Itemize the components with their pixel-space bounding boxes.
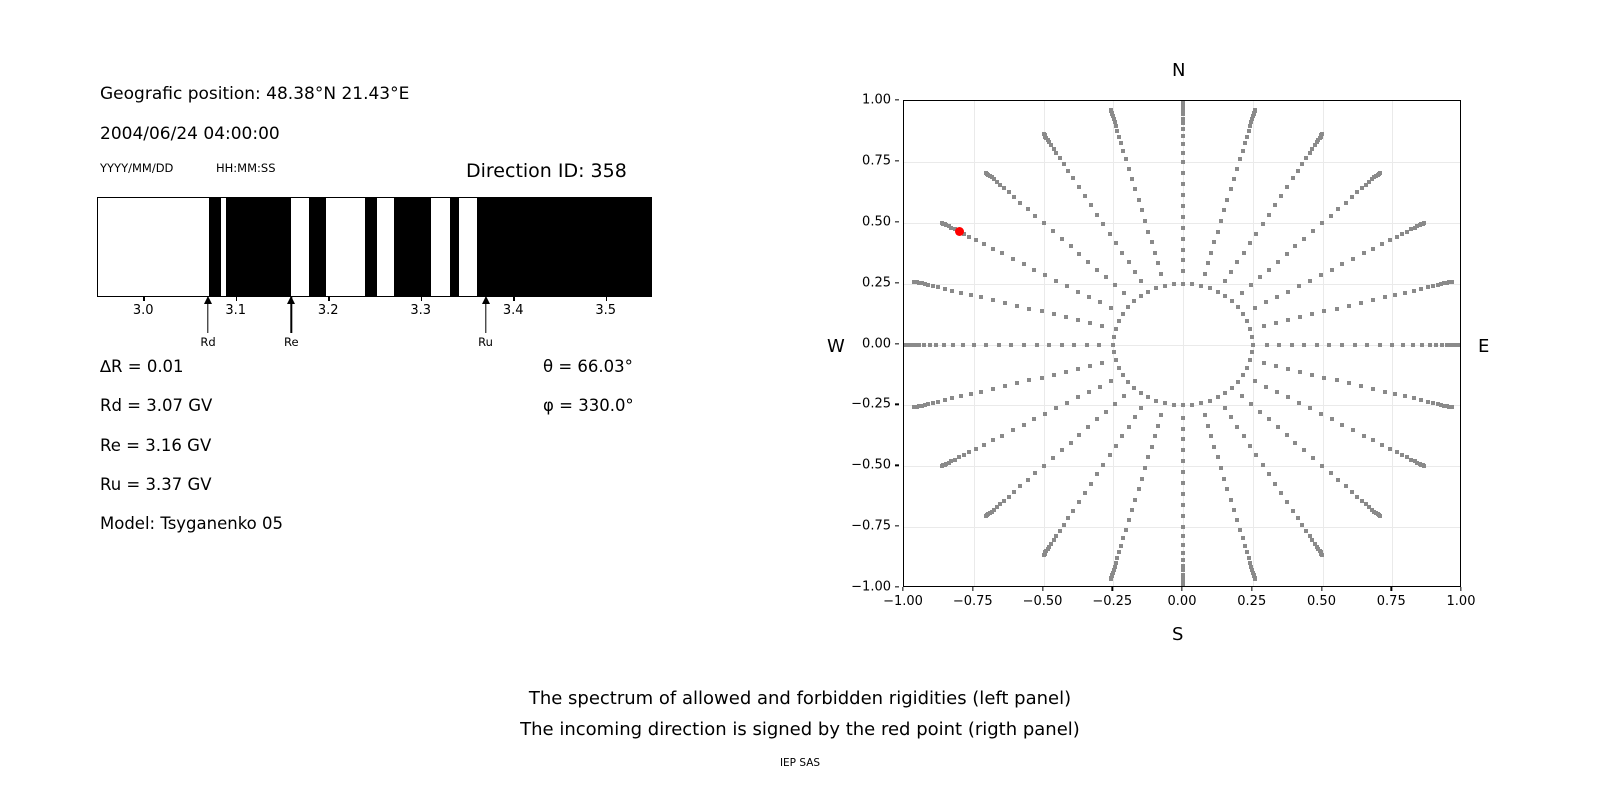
direction-dot [1181,470,1185,474]
direction-dot [1181,117,1185,121]
caption-line-1: The spectrum of allowed and forbidden ri… [0,688,1600,709]
direction-dot [1181,226,1185,230]
direction-dot [959,394,963,398]
direction-dot [1064,370,1068,374]
axis-tick [1181,587,1182,591]
direction-dot [1320,553,1324,557]
direction-dot [1344,201,1348,205]
direction-dot [1265,343,1269,347]
axis-tick-label: −1.00 [883,594,923,609]
direction-dot [922,343,926,347]
direction-dot [1249,283,1253,287]
direction-dot [1040,309,1044,313]
direction-dot [1247,129,1251,133]
direction-dot [1146,290,1150,294]
direction-dot [1298,315,1302,319]
direction-dot [1203,272,1207,276]
direction-dot [1109,108,1113,112]
direction-dot [1115,129,1119,133]
direction-dot [1320,132,1324,136]
direction-dot [1121,312,1125,316]
direction-dot [1302,237,1306,241]
direction-dot [926,402,930,406]
direction-dot [1121,373,1125,377]
direction-dot [991,438,995,442]
direction-dot [1172,403,1176,407]
direction-dot [1440,343,1444,347]
direction-dot [1117,135,1121,139]
direction-dot [1347,304,1351,308]
direction-dot [943,398,947,402]
direction-dot [936,285,940,289]
direction-dot [1120,251,1124,255]
direction-dot [1230,386,1234,390]
gridline-horizontal [904,223,1460,224]
direction-dot [991,247,995,251]
direction-dot [1274,364,1278,368]
direction-dot [1250,335,1254,339]
direction-dot [1393,293,1397,297]
direction-dot [1181,193,1185,197]
direction-dot [1181,121,1185,125]
direction-dot [1054,151,1058,155]
direction-dot [1139,391,1143,395]
direction-dot [1290,343,1294,347]
direction-dot [950,396,954,400]
direction-dot [1181,142,1185,146]
direction-dot [982,443,986,447]
direction-dot [1240,291,1244,295]
direction-dot [1380,443,1384,447]
direction-dot [1431,284,1435,288]
direction-dot [1077,433,1081,437]
direction-dot [1181,182,1185,186]
direction-dot [1245,319,1249,323]
direction-dot [1015,304,1019,308]
gridline-vertical [1323,101,1324,586]
direction-dot [1243,544,1247,548]
direction-dot [1012,195,1016,199]
direction-dot [1018,484,1022,488]
direction-dot [1143,219,1147,223]
direction-dot [1330,417,1334,421]
direction-dot [1077,252,1081,256]
direction-dot [1127,167,1131,171]
direction-dot [1121,536,1125,540]
direction-dot [1212,445,1216,449]
direction-dot [1132,386,1136,390]
direction-dot [1329,471,1333,475]
direction-dot [1359,301,1363,305]
direction-dot [1245,366,1249,370]
direction-dot [1285,500,1289,504]
direction-dot [1450,405,1454,409]
direction-dot [1181,112,1185,116]
direction-dot [1422,464,1426,468]
direction-dot [982,242,986,246]
caption-line-2: The incoming direction is signed by the … [0,719,1600,740]
direction-dot [1232,508,1236,512]
direction-dot [1293,244,1297,248]
direction-dot [984,171,988,175]
direction-dot [1150,445,1154,449]
direction-dot [974,238,978,242]
direction-dot [1254,453,1258,457]
direction-dot [957,455,961,459]
direction-dot [1190,282,1194,286]
direction-dot [1264,300,1268,304]
direction-dot [1216,395,1220,399]
direction-dot [1245,135,1249,139]
direction-dot [1098,300,1102,304]
direction-dot [1311,229,1315,233]
direction-dot [1100,361,1104,365]
direction-dot [1095,268,1099,272]
direction-dot [1395,450,1399,454]
direction-dot [1304,156,1308,160]
direction-dot [959,291,963,295]
direction-dot [1262,361,1266,365]
direction-dot [1293,441,1297,445]
direction-dot [1100,324,1104,328]
direction-dot [940,221,944,225]
axis-tick-label: 0.75 [862,153,891,168]
direction-dot [1007,495,1011,499]
direction-dot [1085,343,1089,347]
direction-dot [1267,417,1271,421]
direction-dot [1139,279,1143,283]
direction-dot [1329,214,1333,218]
direction-dot [1322,309,1326,313]
direction-dot [1181,215,1185,219]
axis-tick-label: 0.00 [1168,594,1197,609]
direction-dot [1052,373,1056,377]
direction-dot [1060,448,1064,452]
direction-dot [940,464,944,468]
direction-dot [1130,508,1134,512]
direction-dot [1286,395,1290,399]
direction-dot [1400,453,1404,457]
direction-dot [1241,149,1245,153]
axis-tick [902,587,903,591]
direction-dot [1371,298,1375,302]
direction-dot [1209,434,1213,438]
direction-dot [1181,258,1185,262]
compass-east-label: E [1478,336,1489,357]
direction-dot [1258,410,1262,414]
direction-dot [1393,392,1397,396]
direction-dot [1181,551,1185,555]
direction-dot [1022,262,1026,266]
direction-dot [1095,417,1099,421]
direction-dot [1064,315,1068,319]
direction-dot [1300,162,1304,166]
axis-tick-label: 0.50 [862,214,891,229]
direction-dot [1276,425,1280,429]
direction-dot [1249,402,1253,406]
direction-dot [1359,384,1363,388]
direction-dot [1104,275,1108,279]
direction-dot [943,287,947,291]
direction-dot [1113,283,1117,287]
direction-dot [1428,343,1432,347]
direction-dot [1248,327,1252,331]
direction-dot [1390,343,1394,347]
direction-dot [1011,428,1015,432]
direction-dot [1320,221,1324,225]
direction-dot [1065,401,1069,405]
direction-dot [1310,312,1314,316]
direction-dot [1153,434,1157,438]
direction-dot [1101,222,1105,226]
direction-dot [1139,406,1143,410]
axis-tick [895,282,899,283]
direction-dot [1026,207,1030,211]
direction-dot [1229,498,1233,502]
direction-dot [951,343,955,347]
direction-dot [912,280,916,284]
direction-dot [1181,481,1185,485]
direction-dot [1018,201,1022,205]
direction-dot [1285,252,1289,256]
direction-dot [1146,395,1150,399]
direction-dot [1380,242,1384,246]
direction-dot [1253,379,1257,383]
direction-dot [1181,160,1185,164]
axis-tick-label: −0.75 [851,519,891,534]
direction-dot [1089,482,1093,486]
direction-dot [1071,176,1075,180]
direction-dot [1419,398,1423,402]
direction-dot [1042,553,1046,557]
direction-dot [1250,350,1254,354]
direction-dot [1109,379,1113,383]
direction-dot [1111,343,1115,347]
axis-tick-label: 0.50 [1307,594,1336,609]
direction-dot [1420,343,1424,347]
direction-dot [912,405,916,409]
direction-dot [1222,208,1226,212]
direction-dot [1412,396,1416,400]
direction-dot [1431,401,1435,405]
direction-dot [1355,495,1359,499]
direction-dot [1150,240,1154,244]
direction-dot [1181,564,1185,568]
axis-tick [1460,587,1461,591]
direction-dot [1262,324,1266,328]
direction-dot [1238,528,1242,532]
direction-dot [1248,444,1252,448]
direction-dot [1117,550,1121,554]
direction-dot [1225,198,1229,202]
direction-dot [1310,373,1314,377]
direction-dot [1146,455,1150,459]
direction-dot [1181,558,1185,562]
direction-dot [1273,203,1277,207]
direction-dot [1026,478,1030,482]
direction-dot [979,390,983,394]
direction-dot [1181,503,1185,507]
direction-dot [1362,251,1366,255]
direction-dot [1236,305,1240,309]
direction-dot [1062,162,1066,166]
direction-dot [1254,232,1258,236]
direction-dot [1222,477,1226,481]
direction-dot [1058,529,1062,533]
direction-dot [1378,171,1382,175]
direction-dot [1181,248,1185,252]
axis-tick [895,586,899,587]
direction-dot [1422,221,1426,225]
direction-dot [967,450,971,454]
direction-dot [1216,290,1220,294]
direction-dot [1083,194,1087,198]
direction-dot [1311,456,1315,460]
direction-dot [1336,207,1340,211]
direction-dot [984,514,988,518]
direction-dot [1172,282,1176,286]
direction-dot [1181,127,1185,131]
direction-dot [1273,482,1277,486]
axis-tick [895,99,899,100]
direction-dot [1181,237,1185,241]
direction-dot [1241,312,1245,316]
direction-dot [1122,291,1126,295]
direction-dot [1308,279,1312,283]
direction-dot [1054,279,1058,283]
direction-dot [1139,294,1143,298]
direction-dot [1097,343,1101,347]
direction-dot [1181,525,1185,529]
direction-dot [1015,381,1019,385]
direction-dot [1120,434,1124,438]
sky-direction-plot [903,100,1461,587]
direction-dot [1127,425,1131,429]
direction-dot [1112,335,1116,339]
direction-dot [1119,544,1123,548]
direction-dot [1002,499,1006,503]
direction-dot [1378,514,1382,518]
axis-tick [895,404,899,405]
direction-dot [1350,195,1354,199]
direction-dot [1114,358,1118,362]
direction-dot [1258,275,1262,279]
direction-dot [1159,272,1163,276]
direction-dot [1355,190,1359,194]
direction-dot [1076,395,1080,399]
direction-dot [1190,403,1194,407]
direction-dot [1126,380,1130,384]
direction-dot [1156,424,1160,428]
direction-dot [1140,208,1144,212]
direction-dot [950,289,954,293]
direction-dot [1113,402,1117,406]
direction-dot [1208,286,1212,290]
direction-dot [1261,463,1265,467]
direction-dot [1108,232,1112,236]
direction-dot [1360,186,1364,190]
axis-tick-label: 1.00 [1447,594,1476,609]
direction-dot [1115,556,1119,560]
direction-dot [1133,270,1137,274]
direction-dot [1137,198,1141,202]
axis-tick [1042,587,1043,591]
axis-tick [895,465,899,466]
direction-dot [1069,441,1073,445]
direction-dot [1241,373,1245,377]
direction-dot [1181,416,1185,420]
direction-dot [1277,343,1281,347]
direction-dot [969,392,973,396]
direction-dot [1362,434,1366,438]
direction-dot [1235,260,1239,264]
direction-dot [1087,390,1091,394]
direction-dot [1223,294,1227,298]
direction-dot [1395,235,1399,239]
direction-dot [1297,284,1301,288]
direction-dot [1117,319,1121,323]
direction-dot [1401,343,1405,347]
direction-dot [1065,284,1069,288]
direction-dot [1296,516,1300,520]
direction-dot [1086,425,1090,429]
direction-dot [1154,286,1158,290]
sky-direction-panel: N E S W 1.000.750.500.250.00−0.25−0.50−0… [0,0,1600,660]
direction-dot [1114,327,1118,331]
direction-dot [991,387,995,391]
direction-dot [1238,157,1242,161]
direction-dot [1199,284,1203,288]
direction-dot [1181,448,1185,452]
direction-dot [1235,518,1239,522]
direction-dot [1297,401,1301,405]
direction-dot [1181,543,1185,547]
direction-dot [1365,343,1369,347]
direction-dot [1077,500,1081,504]
direction-dot [1351,428,1355,432]
direction-dot [1181,204,1185,208]
direction-dot [1241,536,1245,540]
direction-dot [1022,343,1026,347]
direction-dot [1219,219,1223,223]
direction-dot [1086,260,1090,264]
direction-dot [931,284,935,288]
direction-dot [1319,273,1323,277]
direction-dot [1154,399,1158,403]
direction-dot [1308,406,1312,410]
direction-dot [942,343,946,347]
direction-dot [1315,343,1319,347]
direction-dot [1267,268,1271,272]
axis-tick-label: 0.25 [1237,594,1266,609]
direction-dot [1243,141,1247,145]
direction-dot [1319,412,1323,416]
direction-dot [1163,284,1167,288]
direction-dot [1181,427,1185,431]
direction-dot [1181,151,1185,155]
sky-x-axis: −1.00−0.75−0.50−0.250.000.250.500.751.00 [903,587,1461,627]
direction-dot [1216,455,1220,459]
direction-dot [1126,305,1130,309]
direction-dot [1122,394,1126,398]
direction-dot [1181,403,1185,407]
direction-dot [1285,433,1289,437]
direction-dot [1089,203,1093,207]
direction-dot [1426,285,1430,289]
direction-dot [1450,280,1454,284]
direction-dot [903,343,907,347]
direction-dot [1302,343,1306,347]
